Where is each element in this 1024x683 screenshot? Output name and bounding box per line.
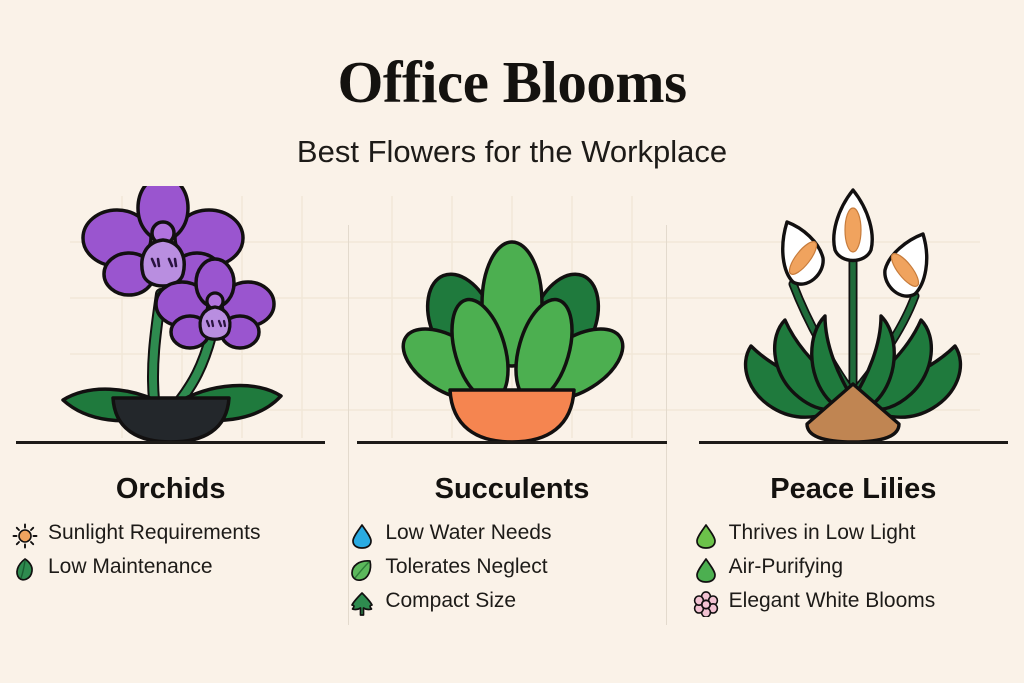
page-subtitle: Best Flowers for the Workplace bbox=[0, 112, 1024, 167]
leaf-icon bbox=[349, 557, 375, 583]
feature-label: Thrives in Low Light bbox=[729, 520, 916, 546]
feature-item: Thrives in Low Light bbox=[693, 520, 1014, 549]
feature-item: Air-Purifying bbox=[693, 554, 1014, 583]
feature-list-orchids: Sunlight Requirements Low Maintenance bbox=[0, 520, 341, 588]
feature-label: Sunlight Requirements bbox=[48, 520, 260, 546]
infographic-poster: Office Blooms Best Flowers for the Workp… bbox=[0, 0, 1024, 683]
plant-name-succulents: Succulents bbox=[435, 474, 590, 506]
page-title: Office Blooms bbox=[0, 0, 1024, 112]
feature-item: Sunlight Requirements bbox=[12, 520, 331, 549]
plant-columns: Orchids bbox=[0, 186, 1024, 656]
tree-icon bbox=[349, 591, 375, 617]
poster-header: Office Blooms Best Flowers for the Workp… bbox=[0, 0, 1024, 167]
feature-item: Low Maintenance bbox=[12, 554, 331, 583]
feature-item: Elegant White Blooms bbox=[693, 588, 1014, 617]
orchid-ground-line bbox=[16, 441, 325, 444]
peace-lily-bloom-right bbox=[885, 234, 927, 296]
feature-list-peace-lilies: Thrives in Low Light Air-Purifying bbox=[683, 520, 1024, 622]
feature-label: Compact Size bbox=[385, 588, 516, 614]
peace-lily-bloom-center bbox=[834, 190, 872, 261]
succulent-illustration bbox=[341, 186, 682, 444]
plant-name-peace-lilies: Peace Lilies bbox=[770, 474, 936, 506]
plant-column-peace-lilies: Peace Lilies Thrives in Low Light bbox=[683, 186, 1024, 656]
peace-lily-bloom-left bbox=[783, 222, 823, 284]
feature-item: Low Water Needs bbox=[349, 520, 672, 549]
peace-lily-ground-line bbox=[699, 441, 1008, 444]
feature-label: Air-Purifying bbox=[729, 554, 843, 580]
feature-label: Low Maintenance bbox=[48, 554, 213, 580]
flower-icon bbox=[693, 591, 719, 617]
orchid-illustration bbox=[0, 186, 341, 444]
plant-name-orchids: Orchids bbox=[116, 474, 226, 506]
feature-list-succulents: Low Water Needs Tolerates Neglect bbox=[341, 520, 682, 622]
leaf-icon bbox=[12, 557, 38, 583]
leaf-drop-icon bbox=[693, 557, 719, 583]
feature-label: Elegant White Blooms bbox=[729, 588, 936, 614]
succulent-ground-line bbox=[357, 441, 666, 444]
feature-item: Tolerates Neglect bbox=[349, 554, 672, 583]
plant-column-succulents: Succulents Low Water Needs bbox=[341, 186, 682, 656]
leaf-drop-icon bbox=[693, 523, 719, 549]
water-drop-icon bbox=[349, 523, 375, 549]
feature-item: Compact Size bbox=[349, 588, 672, 617]
sun-icon bbox=[12, 523, 38, 549]
feature-label: Low Water Needs bbox=[385, 520, 551, 546]
peace-lily-illustration bbox=[683, 186, 1024, 444]
feature-label: Tolerates Neglect bbox=[385, 554, 547, 580]
plant-column-orchids: Orchids bbox=[0, 186, 341, 656]
